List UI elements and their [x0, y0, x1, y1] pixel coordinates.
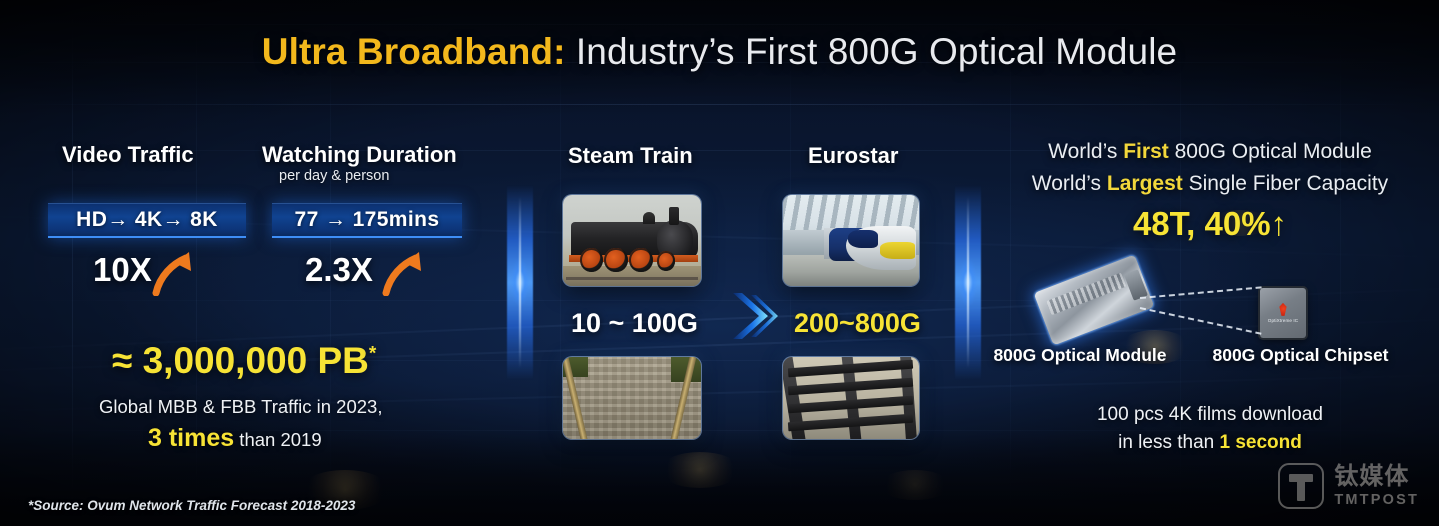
- watching-duration-heading: Watching Duration: [262, 142, 457, 168]
- video-quality-bar: HD→ 4K→ 8K: [48, 203, 246, 238]
- worlds-largest-prefix: World’s: [1032, 172, 1107, 195]
- section-divider-1: [507, 185, 533, 380]
- title-rest: Industry’s First 800G Optical Module: [566, 31, 1178, 72]
- global-traffic-number: ≈ 3,000,000 PB: [112, 340, 369, 381]
- chip-label: OptiXtreme IC: [1268, 318, 1298, 323]
- title-accent: Ultra Broadband:: [262, 31, 566, 72]
- global-traffic-value: ≈ 3,000,000 PB*: [112, 340, 376, 382]
- optical-chipset-caption: 800G Optical Chipset: [1208, 345, 1393, 366]
- rail-track-photo-left: [563, 357, 701, 439]
- download-speed-prefix: in less than: [1118, 432, 1219, 453]
- comparison-rest: than 2019: [234, 429, 321, 450]
- chevron-right-icon: [725, 285, 787, 347]
- tmtpost-logo-icon: [1278, 463, 1324, 509]
- steam-train-speed: 10 ~ 100G: [571, 308, 698, 339]
- watching-duration-multiplier: 2.3X: [305, 251, 373, 289]
- worlds-largest-suffix: Single Fiber Capacity: [1183, 172, 1388, 195]
- worlds-first-suffix: 800G Optical Module: [1169, 140, 1372, 163]
- watching-duration-bar: 77 → 175mins: [272, 203, 462, 238]
- download-speed-line1: 100 pcs 4K films download: [990, 404, 1430, 426]
- comparison-highlight: 3 times: [148, 424, 234, 452]
- growth-arrow-icon: [150, 248, 196, 296]
- eurostar-speed: 200~800G: [794, 308, 921, 339]
- steam-train-heading: Steam Train: [568, 143, 693, 169]
- watermark: 钛媒体 TMTPOST: [1278, 463, 1419, 509]
- section-divider-2: [955, 185, 981, 380]
- eurostar-photo: [783, 195, 919, 286]
- watching-duration-subheading: per day & person: [279, 168, 389, 184]
- capacity-value: 48T, 40%↑: [990, 205, 1430, 243]
- worlds-largest-line: World’s Largest Single Fiber Capacity: [990, 172, 1430, 196]
- download-speed-highlight: 1 second: [1220, 432, 1302, 453]
- watching-duration-bar-label: 77 → 175mins: [295, 208, 440, 232]
- growth-arrow-icon-2: [380, 248, 426, 296]
- watermark-en: TMTPOST: [1334, 493, 1419, 508]
- global-traffic-description: Global MBB & FBB Traffic in 2023,: [99, 396, 382, 418]
- video-traffic-multiplier: 10X: [93, 251, 152, 289]
- optical-module-caption: 800G Optical Module: [990, 345, 1170, 366]
- optical-chipset-image: OptiXtreme IC: [1260, 288, 1306, 338]
- worlds-largest-highlight: Largest: [1107, 172, 1183, 195]
- worlds-first-prefix: World’s: [1048, 140, 1123, 163]
- video-quality-bar-label: HD→ 4K→ 8K: [76, 208, 218, 232]
- worlds-first-highlight: First: [1123, 140, 1169, 163]
- global-traffic-asterisk: *: [369, 344, 376, 365]
- rail-track-photo-right: [783, 357, 919, 439]
- download-speed-line2: in less than 1 second: [990, 432, 1430, 454]
- huawei-logo-icon: [1277, 303, 1290, 316]
- page-title: Ultra Broadband: Industry’s First 800G O…: [0, 31, 1439, 73]
- slide-background: Ultra Broadband: Industry’s First 800G O…: [0, 0, 1439, 526]
- global-traffic-comparison: 3 times than 2019: [148, 424, 322, 453]
- worlds-first-line: World’s First 800G Optical Module: [990, 140, 1430, 164]
- source-footnote: *Source: Ovum Network Traffic Forecast 2…: [28, 498, 355, 513]
- eurostar-heading: Eurostar: [808, 143, 898, 169]
- watermark-cn: 钛媒体: [1334, 465, 1419, 489]
- steam-train-photo: [563, 195, 701, 286]
- video-traffic-heading: Video Traffic: [62, 142, 194, 168]
